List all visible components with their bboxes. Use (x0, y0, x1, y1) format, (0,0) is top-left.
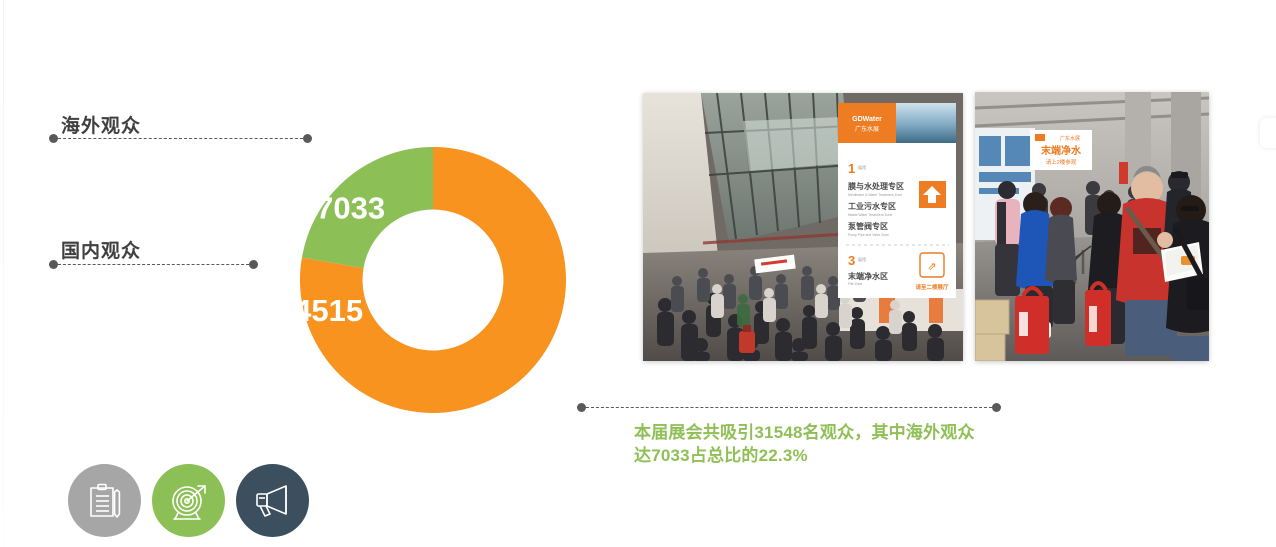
svg-text:1: 1 (848, 161, 855, 176)
leader-dot-end (249, 260, 258, 269)
leader-dash (581, 407, 997, 408)
donut-label-domestic: 24515 (300, 293, 363, 328)
leader-line-domestic (49, 260, 258, 269)
donut-chart-svg: 7033 24515 (300, 147, 566, 413)
leader-dash (53, 138, 308, 139)
slide-canvas: 海外观众 国内观众 7033 24515 (0, 0, 1276, 547)
svg-text:请至二楼展厅: 请至二楼展厅 (915, 283, 949, 291)
svg-text:⇗: ⇗ (927, 261, 936, 273)
photo-a-art: GDWater 广东水展 1 展馆 膜与水处理专区 Membrane & Wat… (643, 93, 963, 361)
visitor-queue-photo[interactable]: 广东水展 末端净水 请上2楼参观 (975, 92, 1209, 361)
badge-target[interactable] (152, 464, 225, 537)
badge-clipboard[interactable] (68, 464, 141, 537)
svg-text:广东水展: 广东水展 (1060, 135, 1080, 142)
svg-text:GDWater: GDWater (852, 116, 882, 123)
svg-text:展馆: 展馆 (858, 256, 866, 262)
svg-text:广东水展: 广东水展 (855, 125, 879, 133)
left-edge-rule (3, 0, 4, 547)
summary-caption: 本届展会共吸引31548名观众，其中海外观众达7033占总比的22.3% (634, 421, 1034, 467)
svg-text:3: 3 (848, 253, 855, 268)
svg-text:工业污水专区: 工业污水专区 (848, 201, 896, 211)
hanging-signage: GDWater 广东水展 1 展馆 膜与水处理专区 Membrane & Wat… (838, 103, 956, 298)
badge-megaphone[interactable] (236, 464, 309, 537)
donut-chart: 7033 24515 (300, 147, 566, 413)
leader-line-overseas (49, 134, 312, 143)
svg-text:Waste Water Treatment Zone: Waste Water Treatment Zone (848, 213, 892, 217)
right-edge-artifact (1260, 118, 1276, 148)
svg-text:展馆: 展馆 (858, 164, 866, 170)
donut-label-overseas: 7033 (316, 191, 385, 226)
svg-text:泵管阀专区: 泵管阀专区 (848, 221, 888, 231)
svg-text:Membrane & Water Treatment Zon: Membrane & Water Treatment Zone (848, 193, 902, 197)
exhibition-hall-signage-photo[interactable]: GDWater 广东水展 1 展馆 膜与水处理专区 Membrane & Wat… (643, 93, 963, 361)
leader-dot-end (992, 403, 1001, 412)
hanging-banner: 广东水展 末端净水 请上2楼参观 (1030, 130, 1092, 170)
leader-dash (53, 264, 254, 265)
svg-text:末端净水区: 末端净水区 (848, 271, 888, 281)
legend-label-domestic: 国内观众 (61, 236, 141, 263)
leader-line-caption (577, 403, 1001, 412)
svg-text:膜与水处理专区: 膜与水处理专区 (848, 181, 904, 191)
megaphone-icon (252, 480, 294, 522)
clipboard-icon (85, 481, 125, 521)
svg-text:末端净水: 末端净水 (1041, 144, 1082, 157)
svg-text:Pump Pipe and Valve Zone: Pump Pipe and Valve Zone (848, 233, 889, 237)
leader-dot-end (303, 134, 312, 143)
svg-text:请上2楼参观: 请上2楼参观 (1046, 158, 1077, 166)
target-arrow-icon (168, 480, 210, 522)
photo-b-art: 广东水展 末端净水 请上2楼参观 (975, 92, 1209, 361)
svg-text:Filtr Zone: Filtr Zone (848, 282, 862, 286)
icon-badge-row (68, 464, 309, 537)
